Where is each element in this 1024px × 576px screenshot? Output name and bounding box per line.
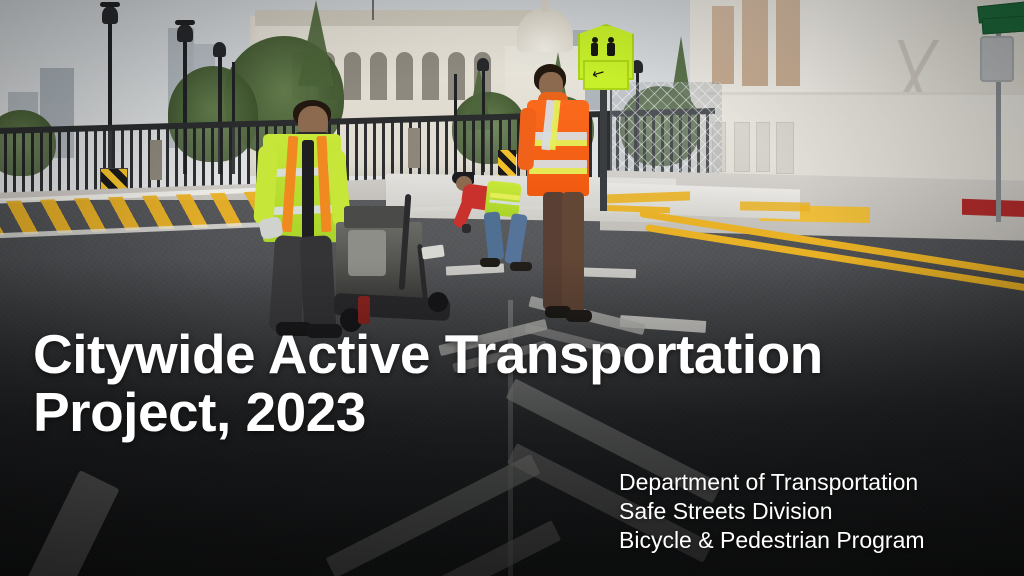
machine-wheel (428, 292, 448, 312)
street-lamp-cap (175, 20, 195, 25)
arched-window (344, 52, 361, 100)
street-name-sign (981, 15, 1024, 34)
conifer-tree (298, 0, 334, 86)
page-title: Citywide Active Transportation Project, … (33, 325, 933, 441)
graffiti-marks (855, 40, 975, 100)
arched-window (422, 52, 439, 100)
subtitle-line-2: Safe Streets Division (619, 497, 925, 526)
pedestrian-figure-icon (607, 43, 615, 56)
machine-paint-tank (344, 206, 406, 228)
worker-leg (299, 235, 336, 335)
vest-reflective-stripe (529, 132, 587, 140)
subtitle-line-1: Department of Transportation (619, 468, 925, 497)
arched-window (396, 52, 413, 100)
presentation-slide: ↙ (0, 0, 1024, 576)
wall-panel (776, 122, 794, 174)
worker-arm (517, 108, 536, 171)
vest-reflective-stripe (529, 168, 587, 174)
railing-pillar (150, 140, 162, 180)
machine-hopper (348, 230, 386, 276)
worker-leg (562, 192, 584, 316)
wall-panel (756, 122, 770, 172)
flagpole (372, 0, 374, 20)
boarded-window (776, 0, 800, 86)
worker-hand-tool (462, 224, 471, 233)
wall-panel (734, 122, 750, 172)
worker-boot (510, 262, 532, 271)
red-curb (962, 199, 1024, 217)
boarded-window (712, 6, 734, 84)
boarded-window (742, 0, 768, 86)
vest-reflective-stripe (529, 160, 587, 168)
worker-boot (566, 310, 592, 322)
machine-paint-can (358, 296, 370, 324)
worker-boot (480, 258, 500, 267)
worker-shirt-front (302, 140, 314, 240)
street-lamp-head (477, 58, 489, 71)
railing-pillar (408, 128, 420, 168)
yellow-crosswalk-bar (740, 201, 810, 211)
subtitle-line-3: Bicycle & Pedestrian Program (619, 526, 925, 555)
dome-finial (541, 0, 549, 12)
street-lamp-head (213, 42, 226, 57)
street-lamp-cap (100, 2, 120, 7)
pedestrian-figure-icon (591, 43, 598, 56)
vest-reflective-stripe (529, 140, 587, 146)
street-lamp-head (177, 24, 193, 42)
sign-back-blank (980, 36, 1014, 82)
pedestrian-head-icon (592, 37, 598, 43)
arched-window (370, 52, 387, 100)
subtitle-block: Department of Transportation Safe Street… (619, 468, 925, 555)
pedestrian-head-icon (608, 37, 614, 43)
street-lamp-head (102, 6, 118, 24)
